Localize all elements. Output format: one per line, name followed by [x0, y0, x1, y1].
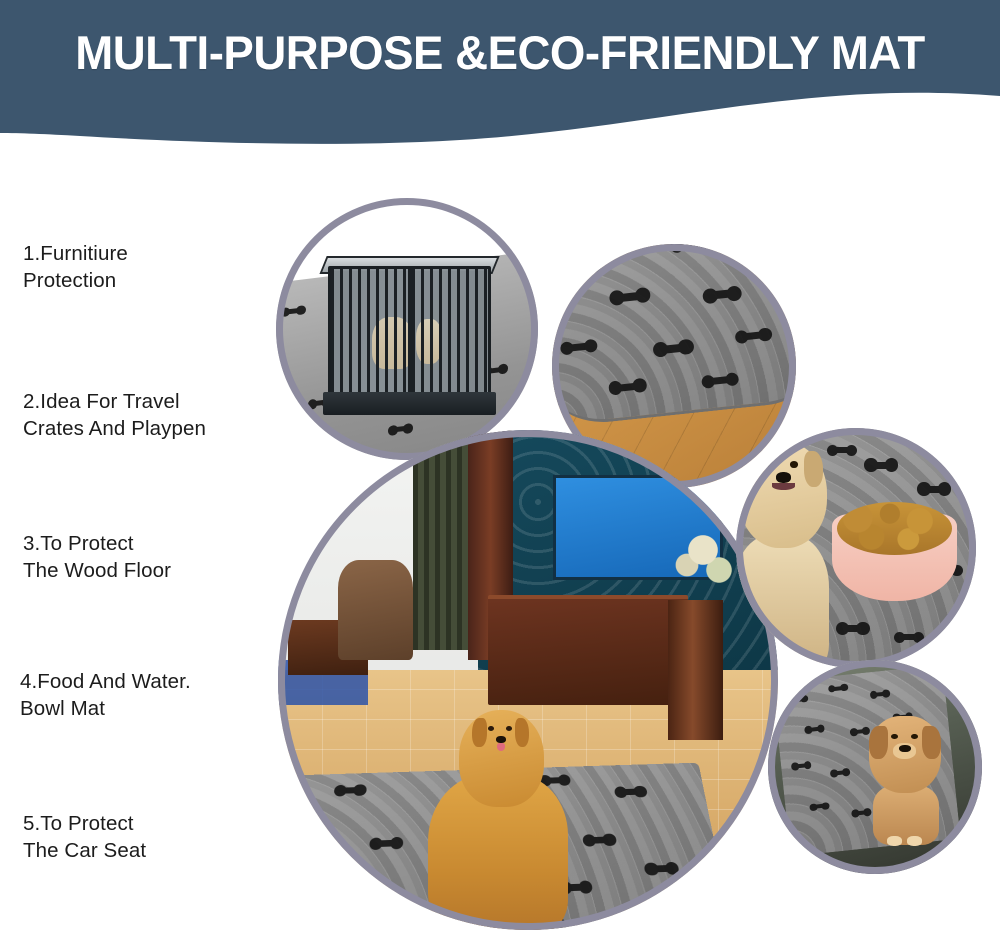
bone-end — [803, 761, 811, 769]
bone-icon — [873, 691, 886, 696]
bone-end — [353, 784, 366, 796]
bone-icon — [833, 770, 846, 775]
bone-end — [840, 683, 848, 691]
bone-icon — [795, 763, 808, 768]
bone-end — [800, 694, 808, 702]
bone-end — [633, 786, 647, 798]
photo-living-room — [278, 430, 778, 930]
bone-icon — [569, 263, 596, 273]
bone-icon — [709, 290, 736, 301]
bone-end — [917, 482, 930, 495]
dog-mouth — [772, 483, 795, 490]
dog-eye-right — [506, 726, 512, 731]
bone-end — [938, 482, 951, 495]
bone-end — [726, 285, 743, 302]
bone-end — [307, 399, 317, 410]
bone-end — [791, 762, 799, 770]
bone-icon — [616, 292, 645, 303]
bone-end — [284, 923, 299, 930]
puppy-paw-right — [907, 836, 921, 846]
dog-ear-right — [804, 451, 823, 487]
bone-icon — [650, 865, 673, 873]
bone-icon — [289, 831, 311, 838]
bone-icon — [741, 332, 767, 342]
bone-end — [306, 922, 321, 930]
tv-console — [488, 595, 688, 705]
bone-end — [296, 305, 306, 316]
puppy — [858, 716, 952, 840]
photo-collage — [0, 150, 1000, 946]
bone-icon — [566, 342, 592, 352]
bone-icon — [813, 804, 826, 809]
bone-icon — [831, 685, 844, 690]
bone-end — [665, 862, 681, 875]
dog-ear-left — [746, 451, 765, 487]
bone-end — [702, 288, 719, 305]
bone-end — [816, 724, 824, 732]
bone-end — [614, 786, 628, 798]
bone-icon — [791, 697, 804, 702]
puppy-body — [873, 785, 939, 845]
bone-end — [882, 689, 890, 697]
puppy-eye-left — [891, 734, 898, 739]
bone-end — [664, 922, 680, 930]
bone-icon — [614, 382, 641, 392]
dog-tongue — [497, 743, 505, 751]
living-room-scene — [278, 430, 778, 930]
pedestal — [668, 600, 723, 740]
dog-body — [736, 535, 829, 668]
bone-end — [587, 259, 602, 274]
bone-icon — [676, 244, 703, 250]
puppy-nose — [899, 745, 910, 752]
bone-icon — [923, 486, 945, 493]
crate-scene — [276, 198, 538, 460]
bone-icon — [899, 634, 919, 640]
kibble — [837, 502, 952, 555]
bone-icon — [278, 796, 285, 803]
bone-end — [758, 328, 773, 343]
bone-icon — [660, 344, 688, 355]
bone-end — [842, 768, 850, 776]
bone-icon — [650, 926, 674, 930]
bone-icon — [375, 840, 397, 847]
food-bowl-scene — [736, 428, 976, 668]
dog-nose — [776, 472, 791, 483]
bone-end — [869, 691, 877, 699]
bone-icon — [340, 787, 361, 794]
bone-end — [821, 802, 829, 810]
photo-food-bowl — [736, 428, 976, 668]
bone-end — [281, 307, 291, 318]
bone-end — [678, 339, 695, 356]
bone-end — [653, 342, 670, 359]
bone-end — [735, 330, 750, 345]
crate-body — [328, 266, 490, 397]
bone-end — [804, 726, 812, 734]
golden-retriever — [418, 710, 588, 930]
golden-retriever-bowl — [736, 442, 842, 663]
puppy-ear-left — [869, 726, 888, 758]
bone-end — [913, 632, 924, 643]
bone-end — [633, 379, 648, 394]
bone-icon — [842, 625, 864, 632]
dog-head — [459, 710, 544, 807]
bone-end — [643, 923, 659, 930]
page-title: MULTI-PURPOSE &ECO-FRIENDLY MAT — [15, 22, 985, 84]
bone-icon — [808, 727, 821, 732]
bone-end — [282, 829, 296, 842]
dog-head — [739, 442, 826, 548]
puppy-head — [869, 716, 941, 793]
bone-icon — [285, 308, 301, 315]
bone-end — [303, 828, 317, 841]
bone-icon — [707, 376, 734, 386]
bone-end — [609, 290, 626, 307]
bone-end — [635, 287, 652, 304]
bone-end — [334, 785, 347, 797]
bone-end — [563, 262, 578, 277]
bone-end — [369, 837, 383, 850]
bone-end — [828, 684, 836, 692]
bone-end — [864, 458, 877, 471]
bone-icon — [620, 789, 642, 796]
car-seat-scene — [768, 660, 982, 874]
bone-end — [278, 793, 291, 805]
bone-icon — [870, 462, 892, 469]
bone-end — [849, 728, 857, 736]
dog-eye-right — [790, 461, 798, 467]
dog-ear-right — [515, 718, 529, 747]
bone-end — [787, 696, 795, 704]
bone-end — [608, 381, 623, 396]
bone-end — [701, 375, 716, 390]
bone-end — [602, 833, 617, 846]
dog-eye-left — [488, 726, 494, 731]
crate-base — [323, 392, 496, 416]
armchair — [338, 560, 413, 660]
puppy-eye-right — [911, 734, 918, 739]
photo-car-seat — [768, 660, 982, 874]
bone-end — [644, 862, 659, 875]
bone-icon — [344, 883, 367, 891]
puppy-ear-right — [922, 726, 941, 758]
bone-end — [856, 622, 869, 635]
bone-end — [809, 803, 817, 811]
bone-icon — [290, 926, 314, 930]
bone-end — [359, 880, 373, 894]
bone-end — [695, 244, 710, 251]
bone-end — [885, 458, 898, 471]
dog-nose — [496, 736, 505, 743]
puppy-paw-left — [887, 836, 901, 846]
bone-end — [894, 632, 905, 643]
bone-end — [830, 769, 838, 777]
header-banner: MULTI-PURPOSE &ECO-FRIENDLY MAT — [0, 0, 1000, 150]
bone-end — [498, 364, 508, 375]
bone-end — [338, 881, 352, 895]
photo-crate — [276, 198, 538, 460]
bone-end — [725, 373, 740, 388]
bone-end — [846, 445, 857, 456]
bone-end — [583, 339, 598, 354]
dog-ear-left — [472, 718, 486, 747]
mat-on-wood — [552, 244, 796, 429]
dog-eye-left — [767, 461, 775, 467]
crate-divider — [408, 269, 413, 394]
bone-end — [390, 837, 403, 850]
bone-end — [670, 244, 685, 254]
bone-icon — [588, 836, 610, 843]
bone-end — [560, 341, 575, 356]
